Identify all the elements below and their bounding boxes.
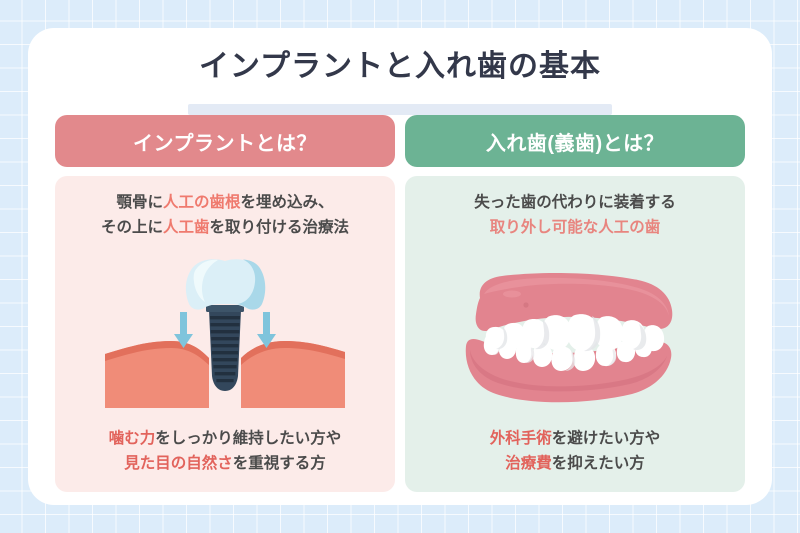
implant-crown <box>186 259 265 309</box>
text-segment: を重視する方 <box>233 455 326 472</box>
panel-header-denture: 入れ歯(義歯)とは？ <box>405 115 745 167</box>
panel-body-implant: 顎骨に人工の歯根を埋め込み、 その上に人工歯を取り付ける治療法 <box>55 176 395 492</box>
full-denture-illustration <box>405 254 745 414</box>
text-segment: 顎骨に <box>116 194 163 211</box>
panel-header-implant: インプラントとは？ <box>55 115 395 167</box>
denture-description-line1: 失った歯の代わりに装着する <box>405 190 745 215</box>
panel-header-denture-label: 入れ歯(義歯)とは？ <box>486 127 664 156</box>
panel-body-denture: 失った歯の代わりに装着する 取り外し可能な人工の歯 <box>405 176 745 492</box>
denture-icon <box>440 254 710 414</box>
denture-description: 失った歯の代わりに装着する 取り外し可能な人工の歯 <box>405 190 745 240</box>
panel-implant: インプラントとは？ 顎骨に人工の歯根を埋め込み、 その上に人工歯を取り付ける治療… <box>55 115 395 492</box>
text-segment: を避けたい方や <box>552 430 661 447</box>
denture-target-line2: 治療費を抑えたい方 <box>405 451 745 476</box>
denture-target-patient: 外科手術を避けたい方や 治療費を抑えたい方 <box>405 426 745 476</box>
text-highlight: 噛む力 <box>109 430 156 447</box>
implant-description-line2: その上に人工歯を取り付ける治療法 <box>55 215 395 240</box>
text-highlight: 取り外し可能な人工の歯 <box>490 219 661 236</box>
dental-implant-illustration <box>55 258 395 408</box>
text-segment: その上に <box>101 219 163 236</box>
title-underline-bar <box>188 104 612 115</box>
panel-header-implant-label: インプラントとは？ <box>133 127 317 156</box>
denture-description-line2: 取り外し可能な人工の歯 <box>405 215 745 240</box>
panel-denture: 入れ歯(義歯)とは？ 失った歯の代わりに装着する 取り外し可能な人工の歯 <box>405 115 745 492</box>
implant-target-patient: 噛む力をしっかり維持したい方や 見た目の自然さを重視する方 <box>55 426 395 476</box>
text-segment: をしっかり維持したい方や <box>155 430 341 447</box>
title-area: インプラントと入れ歯の基本 <box>28 46 772 88</box>
text-segment: を取り付ける治療法 <box>210 219 350 236</box>
page-title: インプラントと入れ歯の基本 <box>28 46 772 88</box>
content-card: インプラントと入れ歯の基本 インプラントとは？ 顎骨に人工の歯根を埋め込み、 そ… <box>28 28 772 505</box>
text-highlight: 外科手術 <box>490 430 552 447</box>
dental-implant-icon <box>105 258 345 408</box>
text-highlight: 人工の歯根 <box>163 194 241 211</box>
text-highlight: 人工歯 <box>163 219 210 236</box>
implant-target-line2: 見た目の自然さを重視する方 <box>55 451 395 476</box>
text-segment: 失った歯の代わりに装着する <box>474 194 676 211</box>
denture-target-line1: 外科手術を避けたい方や <box>405 426 745 451</box>
text-highlight: 治療費 <box>505 455 552 472</box>
implant-description: 顎骨に人工の歯根を埋め込み、 その上に人工歯を取り付ける治療法 <box>55 190 395 240</box>
text-segment: を埋め込み、 <box>241 194 334 211</box>
text-segment: を抑えたい方 <box>552 455 645 472</box>
implant-target-line1: 噛む力をしっかり維持したい方や <box>55 426 395 451</box>
text-highlight: 見た目の自然さ <box>124 455 233 472</box>
implant-description-line1: 顎骨に人工の歯根を埋め込み、 <box>55 190 395 215</box>
